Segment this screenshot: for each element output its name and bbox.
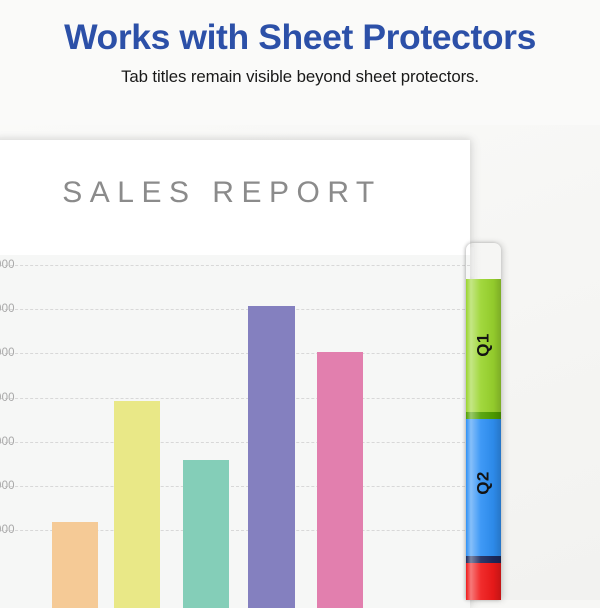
chart-bar bbox=[248, 306, 295, 608]
scene-background: Works with Sheet Protectors Tab titles r… bbox=[0, 0, 600, 600]
tab-label: Q2 bbox=[474, 466, 494, 501]
tab-strip-cap bbox=[466, 243, 501, 279]
tab-unlabeled[interactable] bbox=[466, 556, 501, 600]
tab-cap-highlight bbox=[470, 247, 474, 277]
header: Works with Sheet Protectors Tab titles r… bbox=[0, 0, 600, 125]
page-subtitle: Tab titles remain visible beyond sheet p… bbox=[0, 58, 600, 87]
tab-q1[interactable]: Q1 bbox=[466, 279, 501, 412]
chart-plot-area bbox=[0, 255, 470, 608]
tab-q2[interactable]: Q2 bbox=[466, 412, 501, 556]
chart-bar bbox=[114, 401, 160, 608]
sales-bar-chart: 0,0000,0000,0000,0000,0000,0000,000 bbox=[0, 255, 470, 608]
index-tab-strip[interactable]: Q1Q2 bbox=[466, 243, 501, 600]
tab-gloss bbox=[466, 556, 501, 600]
page-title: Works with Sheet Protectors bbox=[0, 0, 600, 58]
document-page: SALES REPORT 0,0000,0000,0000,0000,0000,… bbox=[0, 140, 470, 608]
tab-label: Q1 bbox=[474, 327, 494, 362]
chart-bar bbox=[183, 460, 229, 608]
chart-bar bbox=[317, 352, 363, 608]
document-title: SALES REPORT bbox=[0, 176, 452, 210]
chart-bar bbox=[52, 522, 98, 608]
